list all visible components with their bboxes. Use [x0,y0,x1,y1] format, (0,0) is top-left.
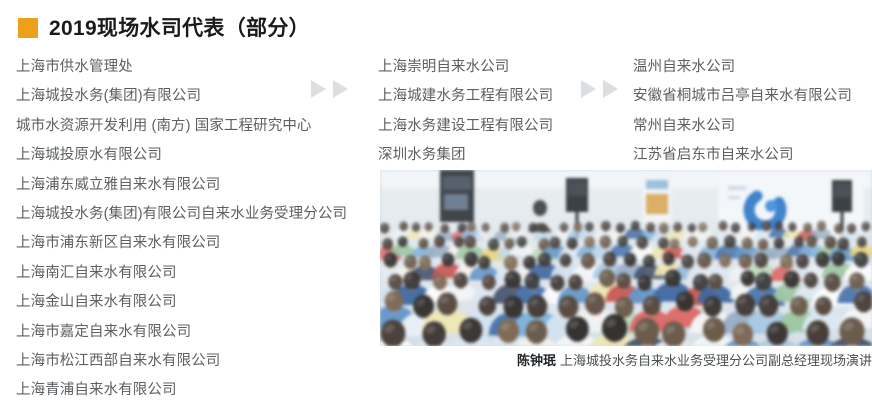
arrow-separator-group-1 [311,80,348,98]
triangle-right-icon [333,80,348,98]
company-list-column-3: 温州自来水公司安徽省桐城市吕亭自来水有限公司常州自来水公司江苏省启东市自来水公司 [633,53,872,171]
company-list-column-2: 上海崇明自来水公司上海城建水务工程有限公司上海水务建设工程有限公司深圳水务集团 [378,53,608,171]
triangle-right-icon [581,80,596,98]
company-list-item: 上海城投原水有限公司 [16,141,346,170]
company-list-item: 上海金山自来水有限公司 [16,288,346,317]
company-list-item: 上海市浦东新区自来水有限公司 [16,229,346,258]
company-list-item: 上海城投水务(集团)有限公司 [16,82,346,111]
title-bullet-square [18,18,38,38]
company-list-item: 江苏省启东市自来水公司 [633,141,872,170]
company-list-item: 上海市嘉定自来水有限公司 [16,318,346,347]
photo-caption: 陈钟珉上海城投水务自来水业务受理分公司副总经理现场演讲 [380,352,872,370]
company-list-item: 上海城投水务(集团)有限公司自来水业务受理分公司 [16,200,346,229]
company-list-item: 上海南汇自来水有限公司 [16,259,346,288]
company-list-item: 上海崇明自来水公司 [378,53,608,82]
company-list-item: 城市水资源开发利用 (南方) 国家工程研究中心 [16,112,346,141]
page-title-row: 2019现场水司代表（部分） [18,14,310,42]
company-list-item: 上海市松江西部自来水有限公司 [16,347,346,376]
company-list-item: 上海浦东威立雅自来水有限公司 [16,171,346,200]
company-list-column-1: 上海市供水管理处上海城投水务(集团)有限公司城市水资源开发利用 (南方) 国家工… [16,53,346,406]
company-list-item: 温州自来水公司 [633,53,872,82]
photo-caption-text: 上海城投水务自来水业务受理分公司副总经理现场演讲 [560,353,872,368]
photo-caption-name: 陈钟珉 [517,353,556,368]
triangle-right-icon [603,80,618,98]
company-list-item: 上海青浦自来水有限公司 [16,376,346,405]
arrow-separator-group-2 [581,80,618,98]
triangle-right-icon [311,80,326,98]
conference-photo [380,170,872,346]
conference-photo-canvas [380,170,872,346]
company-list-item: 常州自来水公司 [633,112,872,141]
company-list-item: 上海市供水管理处 [16,53,346,82]
page-title: 2019现场水司代表（部分） [49,18,310,39]
company-list-item: 上海城建水务工程有限公司 [378,82,608,111]
company-list-item: 上海水务建设工程有限公司 [378,112,608,141]
company-list-item: 深圳水务集团 [378,141,608,170]
company-list-item: 安徽省桐城市吕亭自来水有限公司 [633,82,872,111]
